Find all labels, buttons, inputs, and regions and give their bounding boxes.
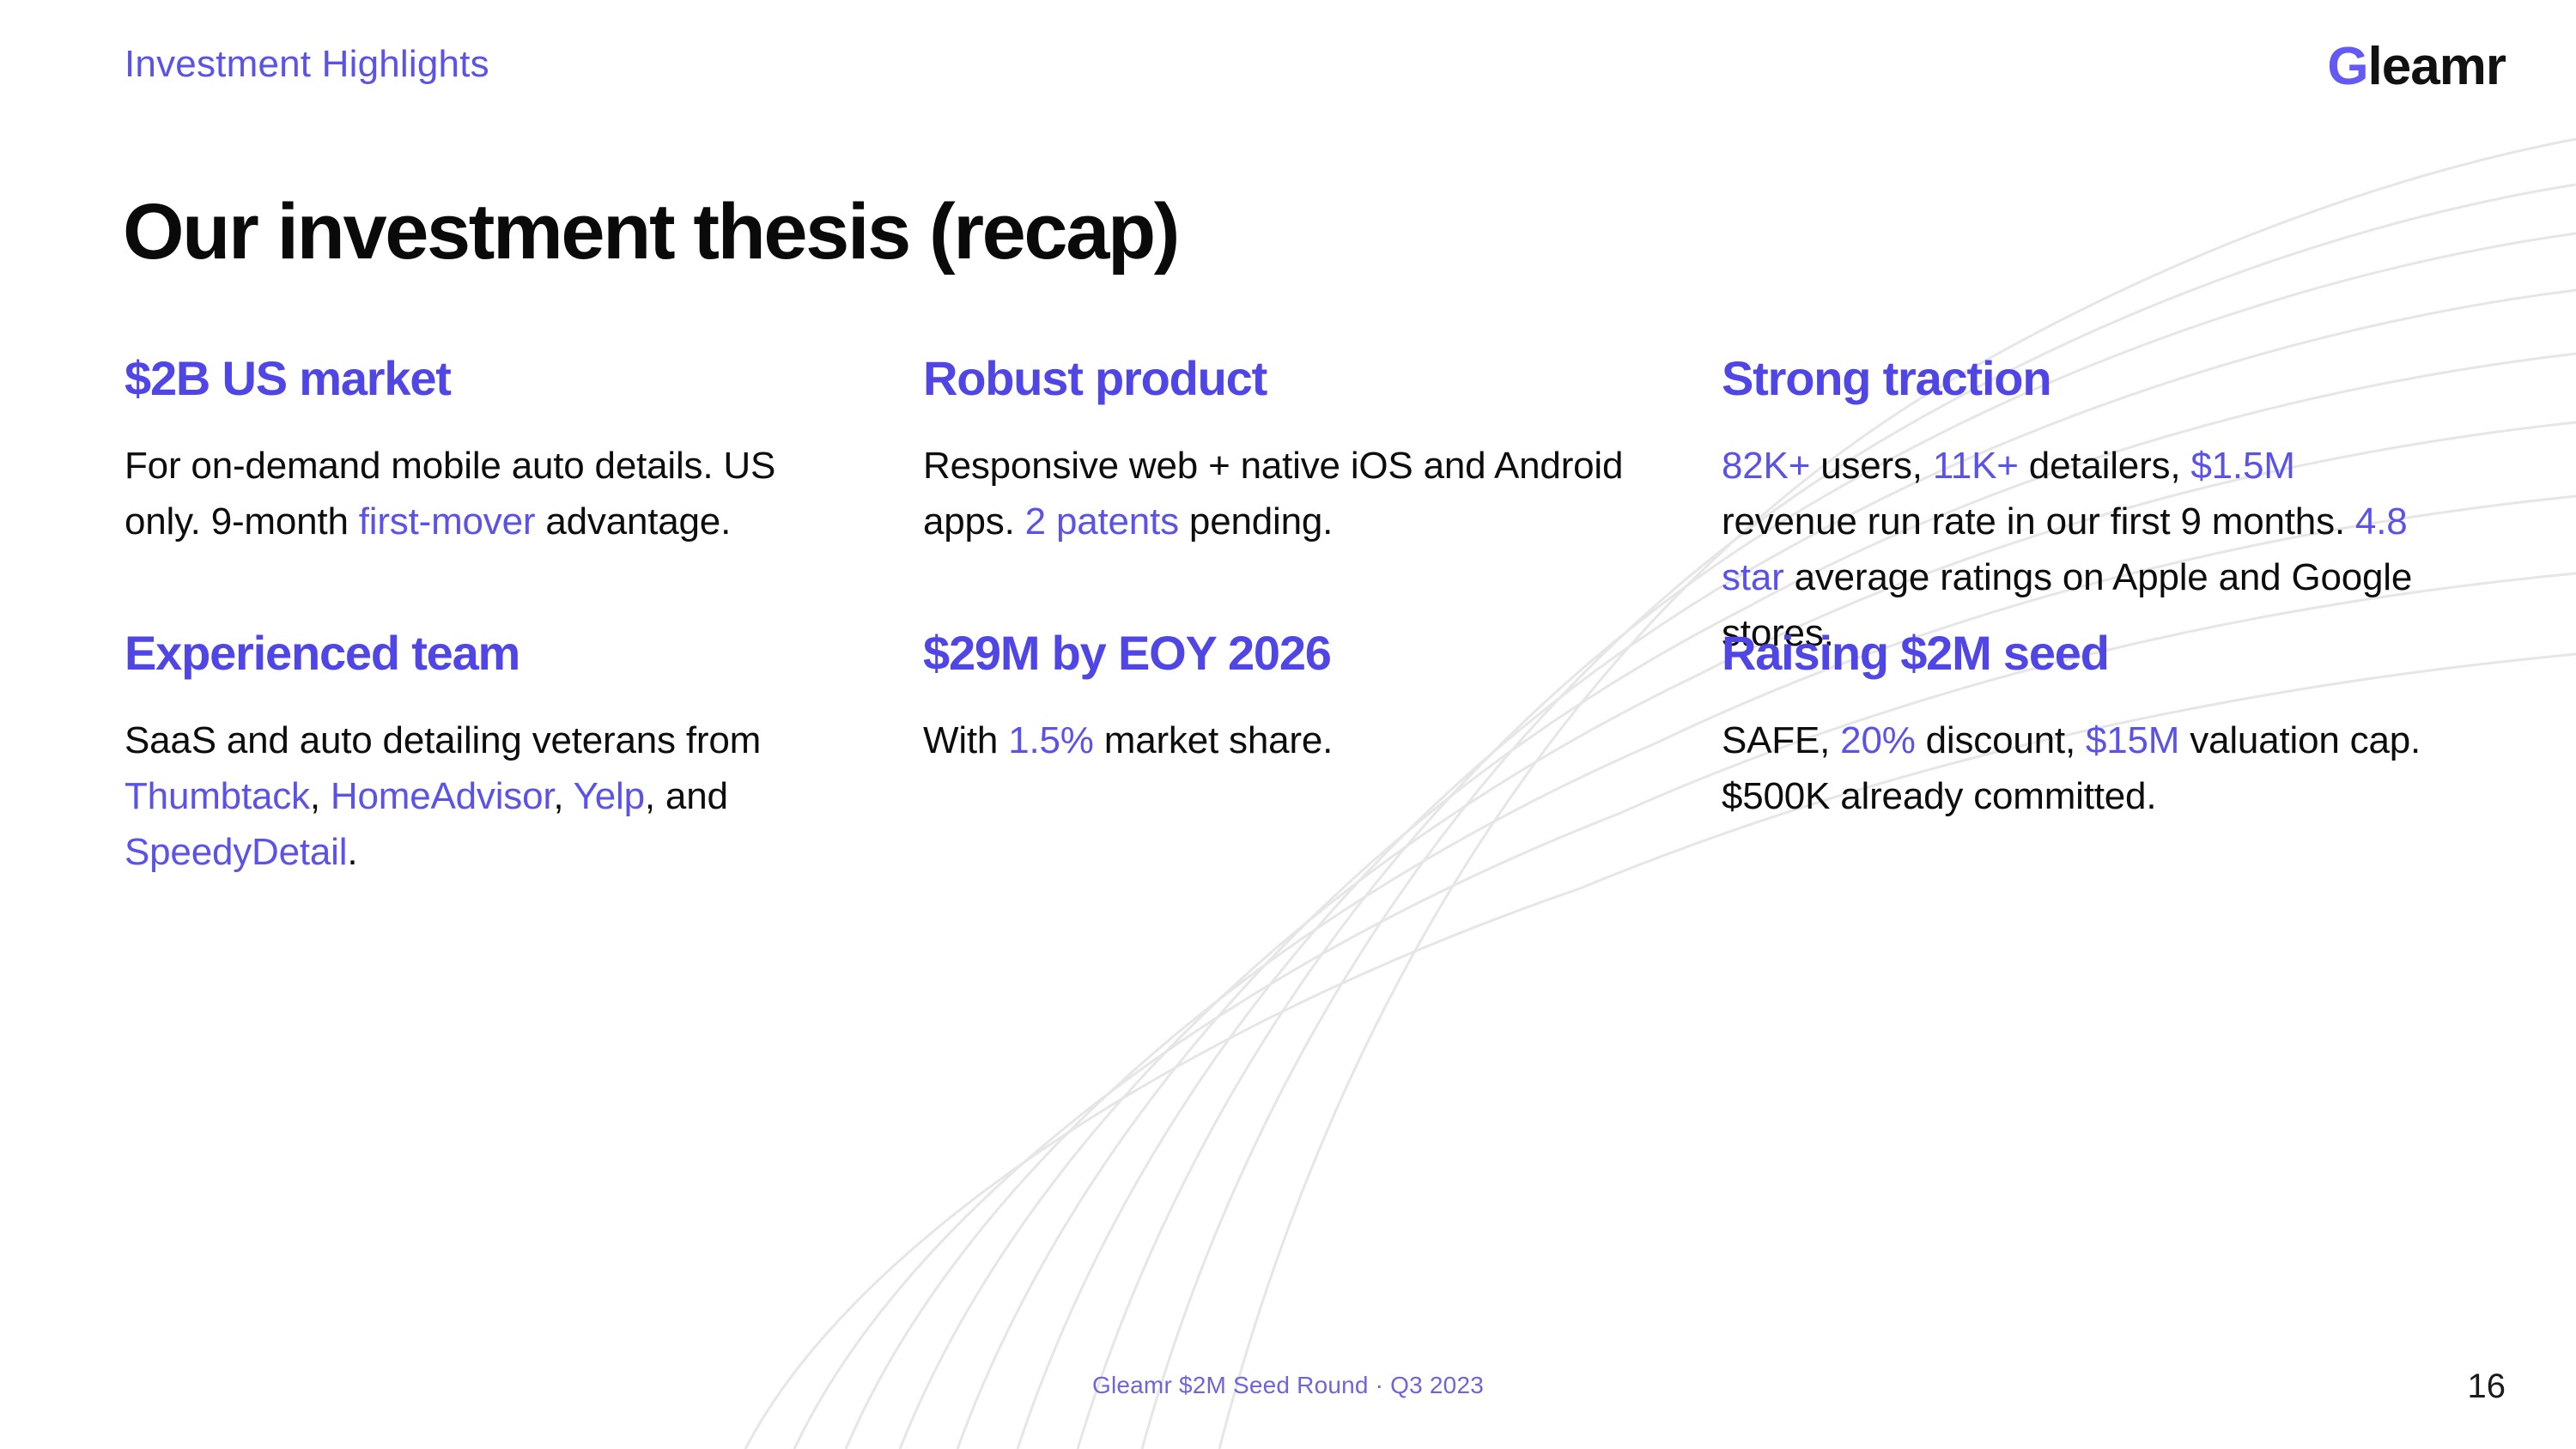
- slide: Investment Highlights Gleamr Our investm…: [0, 0, 2576, 1449]
- body-segment: advantage.: [535, 500, 731, 543]
- body-segment: , and: [645, 775, 728, 817]
- body-highlight: 1.5%: [1008, 719, 1094, 761]
- card-product: Robust product Responsive web + native i…: [923, 352, 1722, 627]
- body-segment: revenue run rate in our first 9 months.: [1722, 500, 2355, 543]
- card-forecast: $29M by EOY 2026 With 1.5% market share.: [923, 627, 1722, 880]
- body-segment: discount,: [1916, 719, 2086, 761]
- body-highlight: Yelp: [574, 775, 645, 817]
- body-segment: SAFE,: [1722, 719, 1840, 761]
- card-title-market: $2B US market: [125, 352, 829, 405]
- body-highlight: 20%: [1840, 719, 1915, 761]
- card-body-raise: SAFE, 20% discount, $15M valuation cap. …: [1722, 712, 2426, 824]
- body-highlight: 82K+: [1722, 445, 1810, 487]
- card-body-forecast: With 1.5% market share.: [923, 712, 1627, 768]
- body-segment: pending.: [1179, 500, 1333, 543]
- card-traction: Strong traction 82K+ users, 11K+ detaile…: [1722, 352, 2520, 627]
- body-segment: users,: [1810, 445, 1933, 487]
- body-highlight: $15M: [2086, 719, 2179, 761]
- card-body-team: SaaS and auto detailing veterans from Th…: [125, 712, 829, 880]
- body-highlight: first-mover: [359, 500, 536, 543]
- card-raise: Raising $2M seed SAFE, 20% discount, $15…: [1722, 627, 2520, 880]
- body-segment: ,: [553, 775, 573, 817]
- card-title-team: Experienced team: [125, 627, 829, 680]
- body-segment: .: [347, 831, 357, 873]
- body-highlight: HomeAdvisor: [331, 775, 553, 817]
- card-body-product: Responsive web + native iOS and Android …: [923, 438, 1627, 549]
- logo-wordmark: leamr: [2368, 37, 2506, 96]
- body-segment: SaaS and auto detailing veterans from: [125, 719, 761, 761]
- page-number: 16: [2468, 1367, 2506, 1406]
- body-highlight: SpeedyDetail: [125, 831, 347, 873]
- card-market: $2B US market For on-demand mobile auto …: [125, 352, 923, 627]
- card-body-market: For on-demand mobile auto details. US on…: [125, 438, 829, 549]
- highlights-grid: $2B US market For on-demand mobile auto …: [125, 352, 2520, 880]
- page-title: Our investment thesis (recap): [123, 191, 1178, 274]
- brand-logo: Gleamr: [2327, 36, 2506, 97]
- body-highlight: $1.5M: [2190, 445, 2294, 487]
- card-title-product: Robust product: [923, 352, 1627, 405]
- body-highlight: 2 patents: [1025, 500, 1179, 543]
- body-highlight: 11K+: [1933, 445, 2019, 487]
- body-segment: market share.: [1094, 719, 1333, 761]
- body-highlight: Thumbtack: [125, 775, 310, 817]
- card-title-forecast: $29M by EOY 2026: [923, 627, 1627, 680]
- footer-note: Gleamr $2M Seed Round · Q3 2023: [1092, 1372, 1484, 1399]
- body-segment: With: [923, 719, 1008, 761]
- body-segment: ,: [310, 775, 331, 817]
- card-team: Experienced team SaaS and auto detailing…: [125, 627, 923, 880]
- card-title-raise: Raising $2M seed: [1722, 627, 2426, 680]
- card-title-traction: Strong traction: [1722, 352, 2426, 405]
- body-segment: detailers,: [2019, 445, 2191, 487]
- eyebrow-label: Investment Highlights: [125, 43, 489, 86]
- logo-mark-letter: G: [2327, 37, 2367, 96]
